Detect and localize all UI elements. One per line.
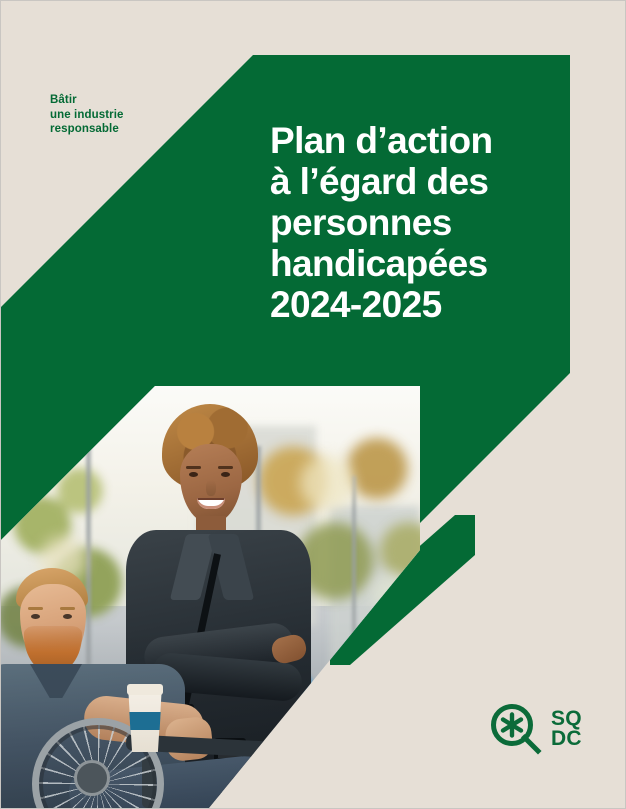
page-title-line: personnes <box>270 202 560 243</box>
photo-wheelchair <box>22 690 322 809</box>
page-title: Plan d’action à l’égard des personnes ha… <box>270 120 560 325</box>
page-title-line: à l’égard des <box>270 161 560 202</box>
brand-tagline: Bâtir une industrie responsable <box>50 93 124 137</box>
photo-wheelchair-hub <box>74 760 110 796</box>
sqdc-logo-text-line: DC <box>551 729 582 749</box>
report-cover-page: Bâtir une industrie responsable Plan d’a… <box>0 0 626 809</box>
brand-tagline-line: une industrie <box>50 108 124 123</box>
photo-coffee-cup-sleeve <box>128 712 162 730</box>
page-title-line: handicapées <box>270 243 560 284</box>
sqdc-logo: SQ DC <box>489 700 585 758</box>
page-title-line: Plan d’action <box>270 120 560 161</box>
sqdc-magnifier-leaf-icon <box>489 702 543 756</box>
brand-tagline-line: Bâtir <box>50 93 124 108</box>
brand-tagline-line: responsable <box>50 122 124 137</box>
photo-coffee-cup <box>126 690 164 752</box>
sqdc-logo-text-line: SQ <box>551 709 582 729</box>
photo-coffee-cup-lid <box>127 684 163 695</box>
page-title-line: 2024-2025 <box>270 284 560 325</box>
sqdc-logo-text: SQ DC <box>551 709 582 749</box>
